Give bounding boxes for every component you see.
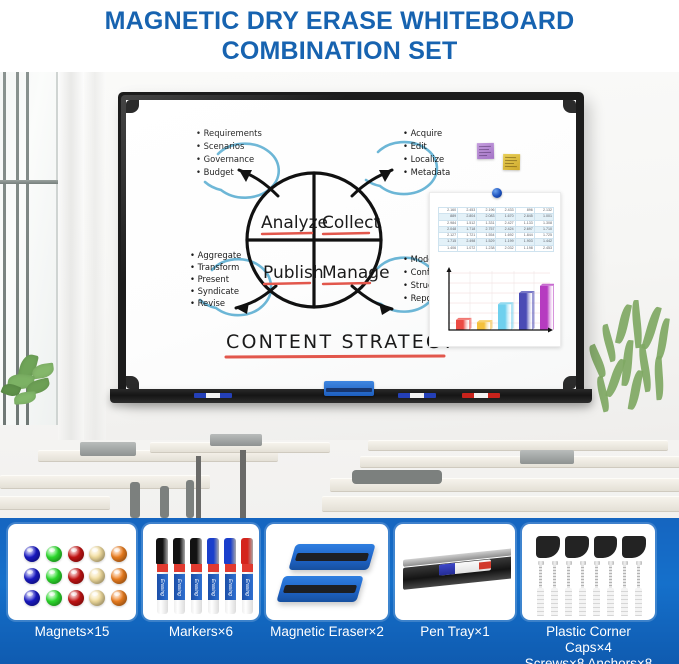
- purple-sticky-note[interactable]: [477, 143, 494, 159]
- tray-marker-red[interactable]: [462, 393, 500, 398]
- accessory-card-markers[interactable]: ErasingErasingErasingErasingErasingErasi…: [143, 524, 259, 620]
- accessory-card-eraser[interactable]: [266, 524, 388, 620]
- svg-text:• Transform: • Transform: [190, 262, 239, 272]
- tray-marker-blue[interactable]: [194, 393, 232, 398]
- anchor-icon: [591, 588, 602, 616]
- svg-text:• Budget: • Budget: [196, 167, 234, 177]
- accessory-label-magnets: Magnets×15: [8, 622, 136, 662]
- svg-text:• Governance: • Governance: [196, 154, 254, 164]
- magnet-icon: [24, 590, 40, 606]
- label-text: Plastic Corner Caps×4: [522, 624, 655, 656]
- bar-chart: [438, 265, 554, 337]
- bar-1: [456, 320, 469, 330]
- product-title: MAGNETIC DRY ERASE WHITEBOARD COMBINATIO…: [0, 0, 679, 72]
- diagram-heading: CONTENT STRATEGY: [226, 331, 456, 353]
- table-cell: 2.032: [496, 245, 515, 251]
- magnet-icon: [68, 546, 84, 562]
- accessories-cards: ErasingErasingErasingErasingErasingErasi…: [8, 524, 671, 620]
- bar-3: [498, 304, 511, 330]
- svg-text:• Localize: • Localize: [403, 154, 444, 164]
- magnet-icon: [89, 590, 105, 606]
- svg-text:• Scenarios: • Scenarios: [196, 141, 244, 151]
- tray-marker-blue-2[interactable]: [398, 393, 436, 398]
- marker-icon: Erasing: [155, 538, 169, 614]
- magnet-grid: [24, 546, 128, 606]
- quadrant-label-collect: Collect: [322, 213, 381, 233]
- corner-cap-icon: [622, 536, 646, 558]
- potted-plant-right: [589, 300, 679, 430]
- classroom-desks: [0, 420, 679, 518]
- quadrant-label-publish: Publish: [263, 263, 324, 283]
- whiteboard-pen-tray[interactable]: [110, 389, 592, 403]
- magnet-icon: [68, 568, 84, 584]
- label-text: Pen Tray×1: [420, 624, 489, 640]
- accessory-label-pen-tray: Pen Tray×1: [395, 622, 515, 662]
- svg-text:• Edit: • Edit: [403, 141, 428, 151]
- gold-sticky-note[interactable]: [503, 154, 520, 170]
- svg-text:• Metadata: • Metadata: [403, 167, 450, 177]
- bar-2: [477, 322, 490, 330]
- data-printout[interactable]: 2.1602.4532.1962.4338962.1328892.8042.08…: [429, 192, 561, 347]
- anchor-icon: [535, 588, 546, 616]
- magnet-icon: [68, 590, 84, 606]
- magnet-icon: [24, 546, 40, 562]
- marker-icon: Erasing: [223, 538, 237, 614]
- table-body: 2.1602.4532.1962.4338962.1328892.8042.08…: [439, 208, 554, 252]
- label-text: Markers×6: [169, 624, 233, 640]
- marker-icon: Erasing: [240, 538, 254, 614]
- magnet-icon: [89, 546, 105, 562]
- whiteboard-surface[interactable]: Analyze Collect Publish Manage • Require…: [126, 100, 576, 389]
- quadrant-label-analyze: Analyze: [261, 213, 328, 233]
- magnet-icon: [89, 568, 105, 584]
- svg-text:• Requirements: • Requirements: [196, 128, 262, 138]
- table-cell: 1.406: [439, 245, 458, 251]
- label-text: Magnets×15: [35, 624, 110, 640]
- svg-text:• Acquire: • Acquire: [403, 128, 442, 138]
- accessory-card-hardware[interactable]: [522, 524, 655, 620]
- anchor-icon: [605, 588, 616, 616]
- anchor-icon: [619, 588, 630, 616]
- accessory-label-hardware: Plastic Corner Caps×4 Screws×8 Anchors×8: [522, 622, 655, 662]
- quadrant-label-manage: Manage: [322, 263, 390, 283]
- potted-plant-left: [2, 352, 64, 414]
- table-cell: 1.072: [458, 245, 477, 251]
- window-rail: [0, 180, 58, 184]
- table-cell: 1.198: [515, 245, 534, 251]
- marker-row: ErasingErasingErasingErasingErasingErasi…: [155, 538, 255, 616]
- svg-text:• Syndicate: • Syndicate: [190, 286, 239, 296]
- magnetic-eraser-icon: [276, 576, 363, 602]
- label-text-line2: Screws×8 Anchors×8: [525, 656, 653, 664]
- magnetic-eraser-icon: [288, 544, 375, 570]
- round-magnet-icon[interactable]: [492, 188, 502, 198]
- corner-cap-icon: [563, 376, 576, 389]
- corner-cap-icon: [565, 536, 589, 558]
- accessory-card-pen-tray[interactable]: [395, 524, 515, 620]
- anchor-icon: [563, 588, 574, 616]
- corner-cap-icon: [563, 100, 576, 113]
- table-row: 1.4061.0721.2382.0321.1982.453: [439, 245, 554, 251]
- svg-text:• Present: • Present: [190, 274, 230, 284]
- magnet-icon: [46, 590, 62, 606]
- corner-cap-icon: [126, 376, 139, 389]
- marker-icon: Erasing: [206, 538, 220, 614]
- corner-cap-icon: [594, 536, 618, 558]
- corner-cap-icon: [536, 536, 560, 558]
- anchor-icon: [549, 588, 560, 616]
- accessories-panel: ErasingErasingErasingErasingErasingErasi…: [0, 518, 679, 664]
- svg-text:• Aggregate: • Aggregate: [190, 250, 241, 260]
- anchor-icon: [577, 588, 588, 616]
- marker-icon: Erasing: [189, 538, 203, 614]
- accessory-card-magnets[interactable]: [8, 524, 136, 620]
- svg-text:• Revise: • Revise: [190, 298, 225, 308]
- marker-icon: Erasing: [172, 538, 186, 614]
- magnet-icon: [111, 590, 127, 606]
- anchor-icon: [633, 588, 644, 616]
- accessories-labels: Magnets×15 Markers×6 Magnetic Eraser×2 P…: [8, 622, 671, 662]
- title-line-1: MAGNETIC DRY ERASE WHITEBOARD: [105, 6, 575, 36]
- magnet-icon: [46, 568, 62, 584]
- magnet-icon: [111, 546, 127, 562]
- title-line-2: COMBINATION SET: [222, 36, 458, 66]
- data-table: 2.1602.4532.1962.4338962.1328892.8042.08…: [438, 207, 554, 252]
- accessory-label-eraser: Magnetic Eraser×2: [266, 622, 388, 662]
- accessory-label-markers: Markers×6: [143, 622, 259, 662]
- magnet-icon: [111, 568, 127, 584]
- table-cell: 1.238: [477, 245, 496, 251]
- bar-5: [540, 286, 553, 330]
- bar-4: [519, 293, 532, 330]
- tray-eraser[interactable]: [324, 381, 374, 396]
- label-text: Magnetic Eraser×2: [270, 624, 384, 640]
- whiteboard[interactable]: Analyze Collect Publish Manage • Require…: [118, 92, 584, 397]
- magnet-icon: [46, 546, 62, 562]
- magnet-icon: [24, 568, 40, 584]
- corner-caps-row: [536, 536, 646, 558]
- anchors-row: [535, 588, 649, 616]
- table-cell: 2.453: [534, 245, 553, 251]
